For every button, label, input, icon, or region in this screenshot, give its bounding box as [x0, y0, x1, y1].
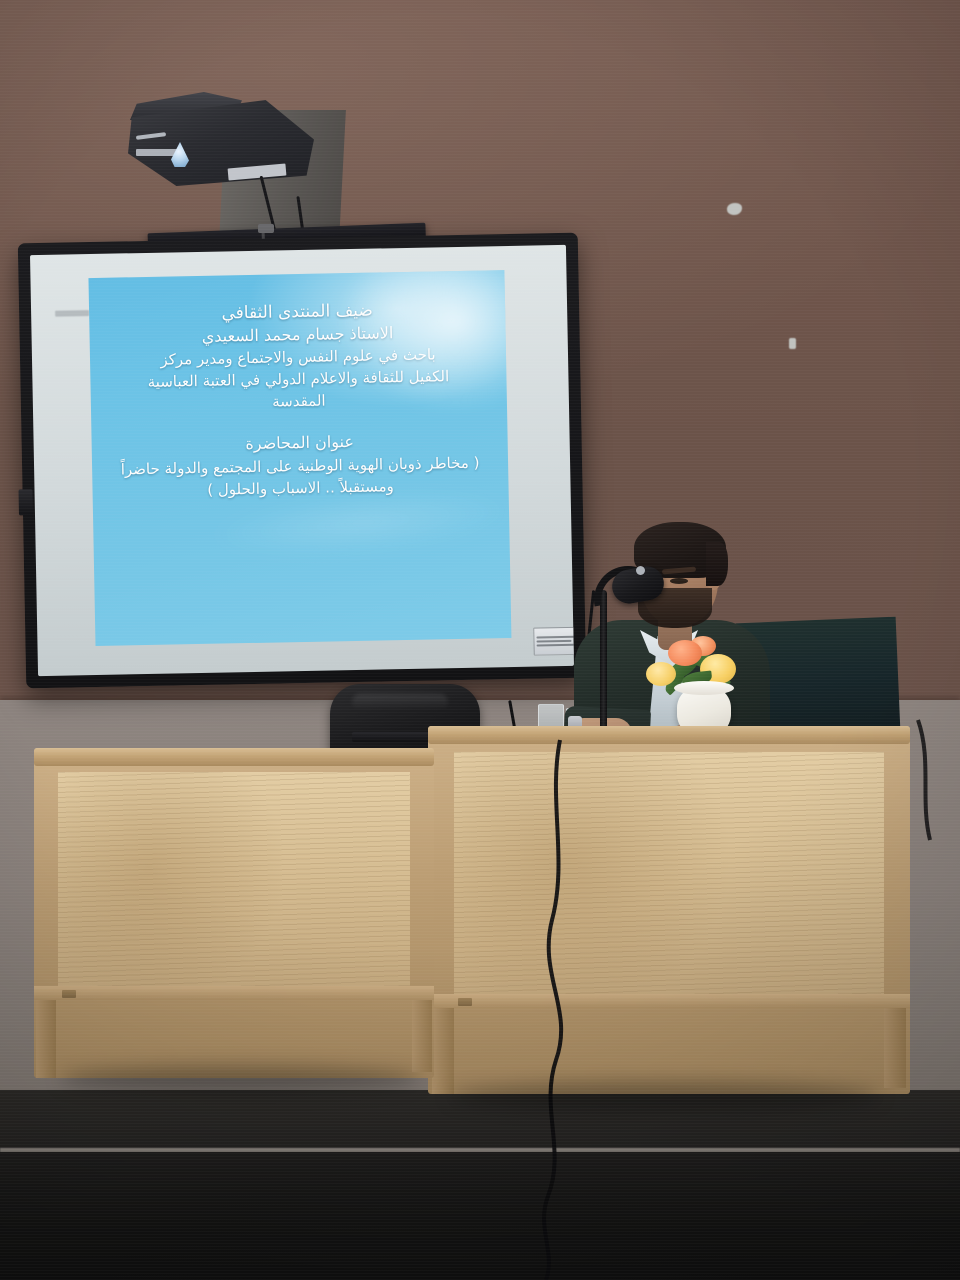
wall-blemish	[789, 338, 796, 349]
bench-shadow	[450, 1082, 880, 1110]
orange-flower	[668, 640, 702, 666]
bench-clip	[62, 990, 76, 998]
speaker-person	[566, 512, 776, 752]
microphone-tip	[636, 566, 645, 575]
projected-slide: ضيف المنتدى الثقافي الاستاذ جسام محمد ال…	[88, 270, 511, 646]
bench-lower-rail	[34, 986, 434, 1000]
bench-shadow	[60, 1066, 420, 1092]
bench-leg	[884, 1008, 906, 1088]
bench-top-rail	[34, 748, 434, 766]
bench-lower-rail	[428, 994, 910, 1008]
interactive-whiteboard[interactable]: ضيف المنتدى الثقافي الاستاذ جسام محمد ال…	[18, 233, 586, 689]
speaker-eye	[670, 578, 688, 584]
bench-leg	[36, 1000, 56, 1078]
bench-clip	[458, 998, 472, 1006]
chair-highlight	[352, 694, 448, 710]
bench-top-rail	[428, 726, 910, 744]
bench-panel	[454, 752, 884, 994]
front-floor	[0, 1152, 960, 1280]
wooden-bench-right[interactable]	[428, 726, 910, 1094]
whiteboard-brand-logo	[55, 310, 89, 317]
lecture-hall-photo: ضيف المنتدى الثقافي الاستاذ جسام محمد ال…	[0, 0, 960, 1280]
bench-leg	[412, 1000, 432, 1072]
bench-leg	[432, 1008, 454, 1094]
speaker-hair-side	[706, 542, 728, 586]
bench-panel	[58, 772, 410, 986]
slide-text-block: ضيف المنتدى الثقافي الاستاذ جسام محمد ال…	[89, 296, 509, 503]
whiteboard-surface[interactable]: ضيف المنتدى الثقافي الاستاذ جسام محمد ال…	[30, 245, 574, 676]
soundbar-bracket	[258, 224, 274, 233]
slide-lecture-title: ( مخاطر ذوبان الهوية الوطنية على المجتمع…	[108, 451, 493, 503]
flower-vase-rim	[674, 681, 734, 695]
wooden-bench-left[interactable]	[34, 748, 434, 1078]
projector-brand-label	[136, 149, 178, 156]
yellow-flower	[646, 662, 676, 686]
whiteboard-side-clip	[19, 489, 33, 515]
